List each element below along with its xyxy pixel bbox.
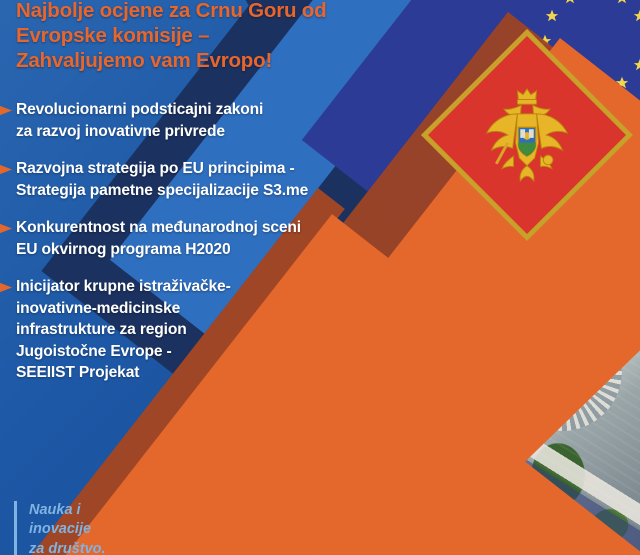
list-item: Inicijator krupne istraživačke- inovativ… bbox=[0, 276, 430, 384]
bullet-line: Jugoistočne Evrope - bbox=[16, 341, 430, 363]
bullet-line: za razvoj inovativne privrede bbox=[16, 121, 430, 143]
list-item: Razvojna strategija po EU principima - S… bbox=[0, 158, 430, 201]
arrow-right-icon bbox=[0, 281, 12, 294]
tagline-line: inovacije bbox=[29, 520, 106, 540]
bullet-line: Inicijator krupne istraživačke- bbox=[16, 276, 430, 298]
poster-canvas: Najbolje ocjene za Crnu Goru od Evropske… bbox=[0, 0, 640, 555]
tagline: Nauka i inovacije za društvo. bbox=[14, 501, 106, 555]
list-item: Revolucionarni podsticajni zakoni za raz… bbox=[0, 99, 430, 142]
bullet-line: inovativne-medicinske bbox=[16, 298, 430, 320]
headline-line-1: Najbolje ocjene za Crnu Goru od bbox=[16, 0, 416, 23]
page-title: Najbolje ocjene za Crnu Goru od Evropske… bbox=[16, 0, 416, 73]
bullet-line: infrastrukture za region bbox=[16, 319, 430, 341]
bullet-line: Konkurentnost na međunarodnoj sceni bbox=[16, 217, 430, 239]
tagline-line: Nauka i bbox=[29, 501, 106, 521]
arrow-right-icon bbox=[0, 163, 12, 176]
bullet-line: SEEIIST Projekat bbox=[16, 362, 430, 384]
bullet-line: Strategija pametne specijalizacije S3.me bbox=[16, 180, 430, 202]
tagline-line: za društvo. bbox=[29, 540, 106, 555]
list-item-text: Inicijator krupne istraživačke- inovativ… bbox=[16, 276, 430, 384]
list-item-text: Razvojna strategija po EU principima - S… bbox=[16, 158, 430, 201]
arrow-right-icon bbox=[0, 222, 12, 235]
bullet-line: Razvojna strategija po EU principima - bbox=[16, 158, 430, 180]
poster-content: Najbolje ocjene za Crnu Goru od Evropske… bbox=[0, 0, 640, 555]
list-item-text: Revolucionarni podsticajni zakoni za raz… bbox=[16, 99, 430, 142]
headline-line-3: Zahvaljujemo vam Evropo! bbox=[16, 48, 416, 73]
bullet-line: Revolucionarni podsticajni zakoni bbox=[16, 99, 430, 121]
bullet-list: Revolucionarni podsticajni zakoni za raz… bbox=[0, 99, 430, 400]
list-item: Konkurentnost na međunarodnoj sceni EU o… bbox=[0, 217, 430, 260]
list-item-text: Konkurentnost na međunarodnoj sceni EU o… bbox=[16, 217, 430, 260]
bullet-line: EU okvirnog programa H2020 bbox=[16, 239, 430, 261]
headline-line-2: Evropske komisije – bbox=[16, 23, 416, 48]
arrow-right-icon bbox=[0, 104, 12, 117]
